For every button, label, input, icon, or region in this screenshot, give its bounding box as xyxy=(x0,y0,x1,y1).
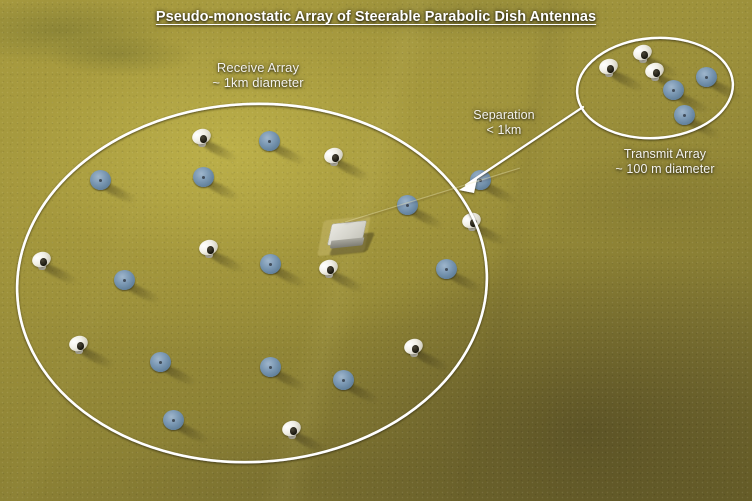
separation-label-line1: Separation xyxy=(473,108,534,123)
diagram-scene: Pseudo-monostatic Array of Steerable Par… xyxy=(0,0,752,501)
receive-array-label: Receive Array ~ 1km diameter xyxy=(212,60,303,91)
separation-label-line2: < 1km xyxy=(473,123,534,138)
receive-array-label-line2: ~ 1km diameter xyxy=(212,75,303,90)
transmit-array-boundary-ellipse xyxy=(574,33,737,144)
annotation-overlay xyxy=(0,0,752,501)
transmit-array-label-line2: ~ 100 m diameter xyxy=(615,162,714,177)
receive-array-label-line1: Receive Array xyxy=(212,60,303,75)
service-track-path xyxy=(345,168,520,222)
receive-array-boundary-ellipse xyxy=(8,92,496,474)
transmit-array-label: Transmit Array ~ 100 m diameter xyxy=(615,147,714,177)
transmit-array-label-line1: Transmit Array xyxy=(615,147,714,162)
page-title: Pseudo-monostatic Array of Steerable Par… xyxy=(156,9,596,25)
separation-label: Separation < 1km xyxy=(473,108,534,138)
